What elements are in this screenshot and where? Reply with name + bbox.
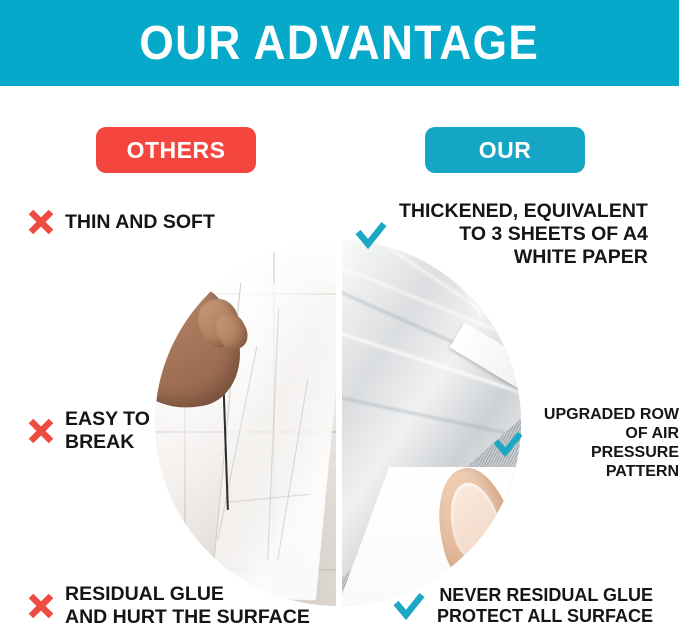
feature-others-1-text: THIN AND SOFT: [65, 211, 215, 234]
feature-others-3-text: RESIDUAL GLUE AND HURT THE SURFACE: [65, 583, 310, 629]
feature-ours-1: THICKENED, EQUIVALENT TO 3 SHEETS OF A4 …: [355, 200, 648, 269]
feature-ours-2: UPGRADED ROW OF AIR PRESSURE PATTERN: [493, 406, 679, 482]
check-mark-icon: [393, 591, 425, 621]
photo-divider: [336, 234, 342, 614]
photo-half-others: [155, 240, 338, 606]
feature-ours-2-text: UPGRADED ROW OF AIR PRESSURE PATTERN: [533, 406, 679, 482]
feature-others-3: RESIDUAL GLUE AND HURT THE SURFACE: [26, 583, 310, 629]
header-banner: OUR ADVANTAGE: [0, 0, 679, 86]
x-mark-icon: [26, 207, 56, 237]
check-mark-icon: [355, 220, 387, 250]
feature-ours-3: NEVER RESIDUAL GLUE PROTECT ALL SURFACE: [393, 585, 653, 627]
x-mark-icon: [26, 416, 56, 446]
check-mark-icon: [493, 430, 523, 458]
feature-others-2: EASY TO BREAK: [26, 408, 150, 454]
feature-others-2-text: EASY TO BREAK: [65, 408, 150, 454]
x-mark-icon: [26, 591, 56, 621]
feature-ours-3-text: NEVER RESIDUAL GLUE PROTECT ALL SURFACE: [437, 585, 653, 627]
feature-others-1: THIN AND SOFT: [26, 207, 215, 237]
comparison-stage: THIN AND SOFT EASY TO BREAK RESIDUAL GLU…: [0, 86, 679, 634]
page-title: OUR ADVANTAGE: [140, 16, 540, 71]
feature-ours-1-text: THICKENED, EQUIVALENT TO 3 SHEETS OF A4 …: [399, 200, 648, 269]
